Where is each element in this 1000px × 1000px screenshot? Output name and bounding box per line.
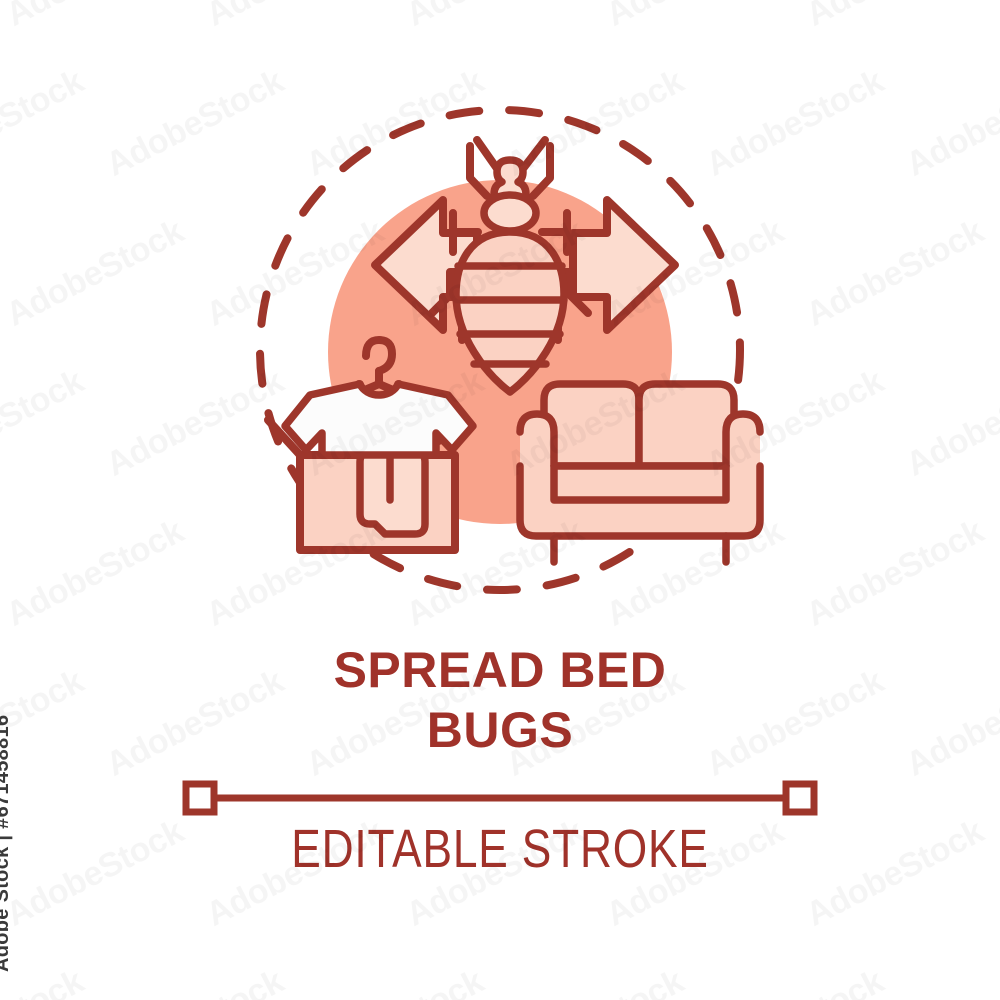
sofa-icon — [520, 384, 760, 562]
stock-id-strip: Adobe Stock | #671458816 — [0, 0, 52, 1000]
editable-stroke-label: EDITABLE STROKE — [90, 818, 910, 880]
stroke-handle-left — [186, 784, 214, 812]
page-title: SPREAD BED BUGS — [0, 640, 1000, 760]
title-line-1: SPREAD BED — [334, 642, 667, 698]
stock-id-text: Adobe Stock | #671458816 — [0, 715, 14, 972]
editable-stroke-line — [0, 778, 1000, 818]
title-line-2: BUGS — [427, 702, 573, 758]
stroke-handle-right — [786, 784, 814, 812]
title-block: SPREAD BED BUGS — [0, 640, 1000, 760]
icon-canvas: .stk { stroke:#9E362B; stroke-width:8; s… — [0, 0, 1000, 1000]
